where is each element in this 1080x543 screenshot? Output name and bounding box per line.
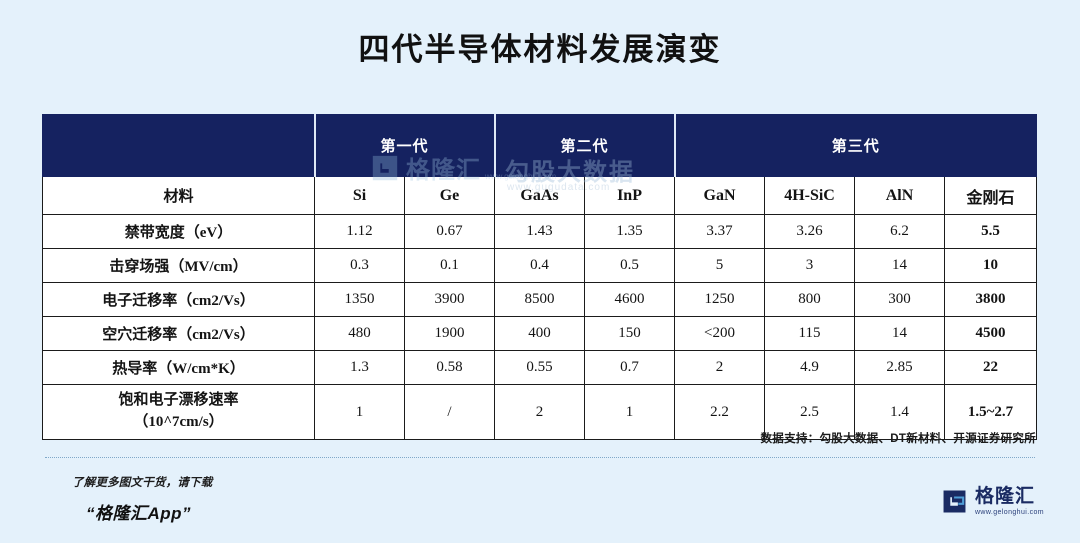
brand-text: 格隆汇 www.gelonghui.com [975, 487, 1044, 516]
cell-thermal-ge: 0.58 [405, 351, 495, 385]
cell-breakdown-gaas: 0.4 [495, 249, 585, 283]
cell-thermal-gaas: 0.55 [495, 351, 585, 385]
cell-satvel-gaas: 2 [495, 385, 585, 440]
row-label-hole-mobility: 空穴迁移率（cm2/Vs） [43, 317, 315, 351]
group-header-gen2: 第二代 [495, 115, 675, 177]
cell-bandgap-aln: 6.2 [855, 215, 945, 249]
brand-name: 格隆汇 [975, 487, 1044, 506]
group-header-corner [43, 115, 315, 177]
footer-note-line1: 了解更多图文干货，请下载 [72, 474, 212, 490]
cell-satvel-si: 1 [315, 385, 405, 440]
footer-divider [45, 457, 1035, 458]
material-header-label: 材料 [43, 177, 315, 215]
cell-emob-si: 1350 [315, 283, 405, 317]
semiconductor-comparison-table: 第一代 第二代 第三代 材料 Si Ge GaAs InP GaN 4H-SiC… [42, 114, 1036, 440]
cell-bandgap-gaas: 1.43 [495, 215, 585, 249]
cell-hmob-aln: 14 [855, 317, 945, 351]
material-header-row: 材料 Si Ge GaAs InP GaN 4H-SiC AlN 金刚石 [43, 177, 1037, 215]
cell-breakdown-gan: 5 [675, 249, 765, 283]
row-label-saturation-velocity-line1: 饱和电子漂移速率 [44, 390, 313, 412]
cell-hmob-inp: 150 [585, 317, 675, 351]
cell-emob-4hsic: 800 [765, 283, 855, 317]
cell-bandgap-si: 1.12 [315, 215, 405, 249]
cell-emob-aln: 300 [855, 283, 945, 317]
cell-satvel-ge: / [405, 385, 495, 440]
cell-thermal-aln: 2.85 [855, 351, 945, 385]
cell-emob-ge: 3900 [405, 283, 495, 317]
row-label-bandgap: 禁带宽度（eV） [43, 215, 315, 249]
cell-hmob-ge: 1900 [405, 317, 495, 351]
matrix-table: 第一代 第二代 第三代 材料 Si Ge GaAs InP GaN 4H-SiC… [42, 114, 1037, 440]
cell-hmob-gan: <200 [675, 317, 765, 351]
group-header-gen3: 第三代 [675, 115, 1037, 177]
material-header-diamond: 金刚石 [945, 177, 1037, 215]
row-label-saturation-velocity-line2: （10^7cm/s） [44, 412, 313, 434]
cell-satvel-inp: 1 [585, 385, 675, 440]
table-row: 热导率（W/cm*K） 1.3 0.58 0.55 0.7 2 4.9 2.85… [43, 351, 1037, 385]
brand-url: www.gelonghui.com [975, 509, 1044, 516]
row-label-saturation-velocity: 饱和电子漂移速率 （10^7cm/s） [43, 385, 315, 440]
table-row: 击穿场强（MV/cm） 0.3 0.1 0.4 0.5 5 3 14 10 [43, 249, 1037, 283]
gelonghui-logo-icon [941, 488, 968, 515]
material-header-aln: AlN [855, 177, 945, 215]
cell-emob-gaas: 8500 [495, 283, 585, 317]
cell-bandgap-diamond: 5.5 [945, 215, 1037, 249]
brand-logo: 格隆汇 www.gelonghui.com [941, 487, 1044, 516]
row-label-electron-mobility: 电子迁移率（cm2/Vs） [43, 283, 315, 317]
material-header-gaas: GaAs [495, 177, 585, 215]
cell-hmob-diamond: 4500 [945, 317, 1037, 351]
source-attribution: 数据支持：勾股大数据、DT新材料、开源证券研究所 [760, 430, 1036, 446]
cell-emob-diamond: 3800 [945, 283, 1037, 317]
footer-note-line2: “格隆汇App” [86, 499, 212, 524]
cell-bandgap-ge: 0.67 [405, 215, 495, 249]
group-header-gen1: 第一代 [315, 115, 495, 177]
table-row: 空穴迁移率（cm2/Vs） 480 1900 400 150 <200 115 … [43, 317, 1037, 351]
cell-thermal-4hsic: 4.9 [765, 351, 855, 385]
cell-thermal-inp: 0.7 [585, 351, 675, 385]
cell-bandgap-4hsic: 3.26 [765, 215, 855, 249]
cell-hmob-4hsic: 115 [765, 317, 855, 351]
material-header-inp: InP [585, 177, 675, 215]
cell-breakdown-aln: 14 [855, 249, 945, 283]
cell-hmob-gaas: 400 [495, 317, 585, 351]
cell-bandgap-gan: 3.37 [675, 215, 765, 249]
cell-thermal-gan: 2 [675, 351, 765, 385]
material-header-si: Si [315, 177, 405, 215]
cell-emob-inp: 4600 [585, 283, 675, 317]
material-header-ge: Ge [405, 177, 495, 215]
cell-emob-gan: 1250 [675, 283, 765, 317]
cell-breakdown-si: 0.3 [315, 249, 405, 283]
cell-breakdown-4hsic: 3 [765, 249, 855, 283]
cell-bandgap-inp: 1.35 [585, 215, 675, 249]
cell-satvel-gan: 2.2 [675, 385, 765, 440]
cell-thermal-diamond: 22 [945, 351, 1037, 385]
cell-breakdown-inp: 0.5 [585, 249, 675, 283]
table-row: 禁带宽度（eV） 1.12 0.67 1.43 1.35 3.37 3.26 6… [43, 215, 1037, 249]
group-header-row: 第一代 第二代 第三代 [43, 115, 1037, 177]
material-header-4hsic: 4H-SiC [765, 177, 855, 215]
row-label-thermal-conductivity: 热导率（W/cm*K） [43, 351, 315, 385]
cell-thermal-si: 1.3 [315, 351, 405, 385]
page-title: 四代半导体材料发展演变 [0, 0, 1080, 67]
cell-hmob-si: 480 [315, 317, 405, 351]
row-label-breakdown-field: 击穿场强（MV/cm） [43, 249, 315, 283]
table-row: 电子迁移率（cm2/Vs） 1350 3900 8500 4600 1250 8… [43, 283, 1037, 317]
cell-breakdown-diamond: 10 [945, 249, 1037, 283]
footer-note: 了解更多图文干货，请下载 “格隆汇App” [72, 474, 212, 524]
material-header-gan: GaN [675, 177, 765, 215]
slide-root: 四代半导体材料发展演变 格隆汇 www.gelonghui.com 勾股大数据 … [0, 0, 1080, 543]
cell-breakdown-ge: 0.1 [405, 249, 495, 283]
